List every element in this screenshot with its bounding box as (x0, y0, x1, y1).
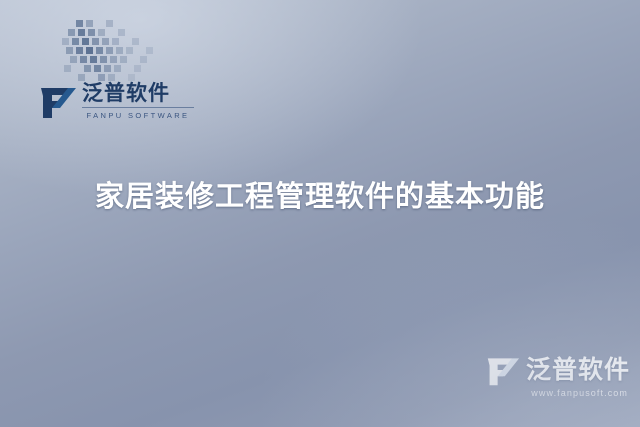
watermark: 泛普软件 www.fanpusoft.com (422, 353, 630, 405)
fanpu-f-mark-icon (38, 82, 78, 120)
slide-title: 家居装修工程管理软件的基本功能 (0, 176, 640, 216)
fanpu-f-mark-icon (485, 353, 521, 387)
watermark-url: www.fanpusoft.com (422, 388, 628, 398)
watermark-cn-name: 泛普软件 (526, 354, 630, 386)
brand-logo: 泛普软件 FANPU SOFTWARE (38, 18, 198, 138)
logo-en-name: FANPU SOFTWARE (82, 107, 194, 121)
watermark-logo-row: 泛普软件 (422, 353, 630, 387)
presentation-slide: 泛普软件 FANPU SOFTWARE 家居装修工程管理软件的基本功能 泛普软件… (0, 0, 640, 427)
pixel-mosaic-icon (60, 18, 172, 84)
logo-lockup: 泛普软件 FANPU SOFTWARE (38, 80, 198, 136)
logo-cn-name: 泛普软件 (82, 80, 194, 106)
logo-text: 泛普软件 FANPU SOFTWARE (82, 80, 194, 121)
